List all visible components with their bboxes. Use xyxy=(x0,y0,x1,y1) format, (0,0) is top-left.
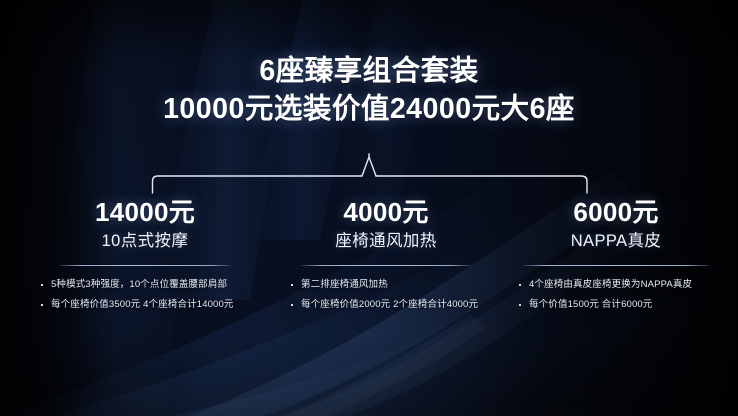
promo-slide: 6座臻享组合套装 10000元选装价值24000元大6座 14000元 10点式… xyxy=(0,0,738,416)
bullet-list-nappa-leather: 4个座椅由真皮座椅更换为NAPPA真皮 每个价值1500元 合计6000元 xyxy=(518,275,728,315)
slide-content: 6座臻享组合套装 10000元选装价值24000元大6座 14000元 10点式… xyxy=(0,0,738,416)
price-ventilation-heating: 4000元 xyxy=(280,196,492,228)
price-nappa-leather: 6000元 xyxy=(504,196,728,228)
list-item: 4个座椅由真皮座椅更换为NAPPA真皮 xyxy=(518,275,728,295)
list-item: 每个价值1500元 合计6000元 xyxy=(518,295,728,315)
feature-column-ventilation-heating: 4000元 座椅通风加热 第二排座椅通风加热 每个座椅价值2000元 2个座椅合… xyxy=(280,196,492,331)
headline: 6座臻享组合套装 10000元选装价值24000元大6座 xyxy=(0,52,738,128)
price-massage: 14000元 xyxy=(22,196,268,228)
headline-line-2: 10000元选装价值24000元大6座 xyxy=(0,90,738,128)
column-divider xyxy=(301,265,471,266)
feature-columns: 14000元 10点式按摩 5种模式3种强度，10个点位覆盖腰部肩部 每个座椅价… xyxy=(0,196,738,331)
column-divider xyxy=(59,265,231,266)
feature-name-nappa-leather: NAPPA真皮 xyxy=(504,228,728,254)
bullet-list-massage: 5种模式3种强度，10个点位覆盖腰部肩部 每个座椅价值3500元 4个座椅合计1… xyxy=(40,275,268,315)
list-item: 5种模式3种强度，10个点位覆盖腰部肩部 xyxy=(40,275,268,295)
feature-column-massage: 14000元 10点式按摩 5种模式3种强度，10个点位覆盖腰部肩部 每个座椅价… xyxy=(22,196,268,331)
column-divider xyxy=(522,265,710,266)
feature-column-nappa-leather: 6000元 NAPPA真皮 4个座椅由真皮座椅更换为NAPPA真皮 每个价值15… xyxy=(504,196,728,331)
list-item: 每个座椅价值2000元 2个座椅合计4000元 xyxy=(290,295,492,315)
feature-name-massage: 10点式按摩 xyxy=(22,228,268,254)
list-item: 每个座椅价值3500元 4个座椅合计14000元 xyxy=(40,295,268,315)
headline-line-1: 6座臻享组合套装 xyxy=(0,52,738,90)
feature-name-ventilation-heating: 座椅通风加热 xyxy=(280,228,492,254)
bullet-list-ventilation-heating: 第二排座椅通风加热 每个座椅价值2000元 2个座椅合计4000元 xyxy=(290,275,492,315)
list-item: 第二排座椅通风加热 xyxy=(290,275,492,295)
grouping-bracket-icon xyxy=(140,148,600,198)
